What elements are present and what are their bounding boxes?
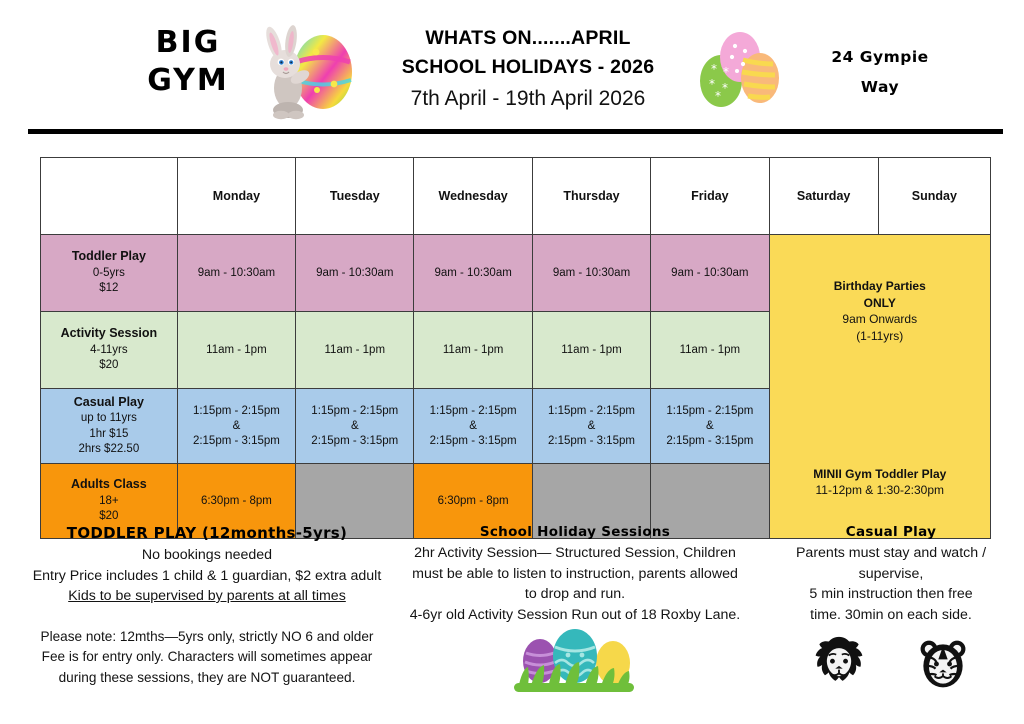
brand-line-2: GYM — [118, 62, 258, 100]
cell-line: 6:30pm - 8pm — [417, 494, 528, 509]
footer-toddler-play: TODDLER PLAY (12months-5yrs) No bookings… — [24, 524, 390, 688]
header-divider — [28, 129, 1003, 134]
row-label-price: $20 — [44, 509, 174, 525]
poster-footer: TODDLER PLAY (12months-5yrs) No bookings… — [0, 524, 1024, 724]
footer-heading-casual-play: Casual Play — [760, 524, 1022, 540]
cell-activity-thursday: 11am - 1pm — [532, 312, 650, 389]
cell-line: 1:15pm - 2:15pm — [654, 404, 765, 419]
cell-line: 1:15pm - 2:15pm — [299, 404, 410, 419]
row-label-price: 1hr $15 — [44, 427, 174, 443]
row-label-casual-play: Casual Play up to 11yrs 1hr $15 2hrs $22… — [41, 389, 178, 464]
table-row: Toddler Play 0-5yrs $12 9am - 10:30am 9a… — [41, 235, 991, 312]
footer-school-holiday-body: 2hr Activity Session— Structured Session… — [394, 543, 756, 625]
cell-toddler-wednesday: 9am - 10:30am — [414, 235, 532, 312]
cell-line: & — [417, 419, 528, 434]
cell-weekend-merged: Birthday Parties ONLY 9am Onwards (1-11y… — [769, 235, 990, 539]
row-label-toddler-play: Toddler Play 0-5yrs $12 — [41, 235, 178, 312]
column-header-friday: Friday — [651, 158, 769, 235]
cell-toddler-tuesday: 9am - 10:30am — [296, 235, 414, 312]
cell-line: 9am - 10:30am — [181, 266, 292, 281]
cell-line: 1:15pm - 2:15pm — [181, 404, 292, 419]
row-label-age: 18+ — [44, 494, 174, 510]
footer-right-line-3: 5 min instruction then free — [760, 584, 1022, 605]
cell-casual-monday: 1:15pm - 2:15pm & 2:15pm - 3:15pm — [177, 389, 295, 464]
lion-head-icon — [810, 635, 868, 693]
cell-line: & — [299, 419, 410, 434]
cell-line: 9am - 10:30am — [536, 266, 647, 281]
footer-mid-line-3: to drop and run. — [394, 584, 756, 605]
cell-line: 2:15pm - 3:15pm — [654, 434, 765, 449]
column-header-saturday: Saturday — [769, 158, 878, 235]
footer-school-holiday-sessions: School Holiday Sessions 2hr Activity Ses… — [394, 524, 756, 695]
poster-header: BIG GYM — [0, 0, 1024, 126]
cell-line: 9am - 10:30am — [417, 266, 528, 281]
footer-right-line-2: supervise, — [760, 564, 1022, 585]
easter-eggs-icon: ** ** * — [690, 26, 786, 110]
footer-right-line-1: Parents must stay and watch / — [760, 543, 1022, 564]
weekend-mini-gym-line-1: MINII Gym Toddler Play — [813, 466, 946, 483]
row-label-title: Casual Play — [44, 395, 174, 411]
cell-toddler-friday: 9am - 10:30am — [651, 235, 769, 312]
cell-line: 2:15pm - 3:15pm — [299, 434, 410, 449]
cell-line: 11am - 1pm — [417, 343, 528, 358]
weekend-birthday-parties: Birthday Parties ONLY 9am Onwards (1-11y… — [834, 278, 926, 344]
cell-line: & — [536, 419, 647, 434]
row-label-price: $20 — [44, 358, 174, 374]
row-label-age: 4-11yrs — [44, 343, 174, 359]
title-line-1: WHATS ON.......APRIL — [372, 24, 684, 53]
cell-line: 9am - 10:30am — [299, 266, 410, 281]
cell-line: 1:15pm - 2:15pm — [417, 404, 528, 419]
footer-casual-play: Casual Play Parents must stay and watch … — [760, 524, 1022, 693]
tiger-head-icon — [914, 635, 972, 693]
cell-line: 2:15pm - 3:15pm — [181, 434, 292, 449]
footer-casual-body: Parents must stay and watch / supervise,… — [760, 543, 1022, 625]
cell-activity-tuesday: 11am - 1pm — [296, 312, 414, 389]
easter-eggs-in-grass-icon — [500, 629, 650, 695]
column-header-wednesday: Wednesday — [414, 158, 532, 235]
cell-toddler-thursday: 9am - 10:30am — [532, 235, 650, 312]
table-header-row: Monday Tuesday Wednesday Thursday Friday… — [41, 158, 991, 235]
cell-line: 11am - 1pm — [654, 343, 765, 358]
row-label-title: Adults Class — [44, 477, 174, 493]
weekend-birthday-line-3: 9am Onwards — [834, 311, 926, 328]
title-date-range: 7th April - 19th April 2026 — [372, 82, 684, 115]
cell-line: & — [654, 419, 765, 434]
cell-activity-friday: 11am - 1pm — [651, 312, 769, 389]
cell-line: 11am - 1pm — [299, 343, 410, 358]
row-label-title: Toddler Play — [44, 249, 174, 265]
footer-mid-line-1: 2hr Activity Session— Structured Session… — [394, 543, 756, 564]
footer-right-line-4: time. 30min on each side. — [760, 605, 1022, 626]
easter-bunny-with-egg-icon — [248, 22, 364, 122]
footer-toddler-note: Please note: 12mths—5yrs only, strictly … — [24, 627, 390, 689]
address-line-2: Way — [790, 72, 970, 102]
page-title: WHATS ON.......APRIL SCHOOL HOLIDAYS - 2… — [372, 24, 684, 115]
cell-line: & — [181, 419, 292, 434]
footer-toddler-note-3: during these sessions, they are NOT guar… — [24, 668, 390, 689]
cell-casual-tuesday: 1:15pm - 2:15pm & 2:15pm - 3:15pm — [296, 389, 414, 464]
row-label-age: 0-5yrs — [44, 266, 174, 282]
cell-line: 11am - 1pm — [181, 343, 292, 358]
schedule-table-wrapper: Monday Tuesday Wednesday Thursday Friday… — [40, 157, 991, 539]
cell-line: 2:15pm - 3:15pm — [417, 434, 528, 449]
footer-toddler-line-3: Kids to be supervised by parents at all … — [24, 586, 390, 607]
cell-line: 9am - 10:30am — [654, 266, 765, 281]
footer-mascots — [760, 635, 1022, 693]
row-label-age: up to 11yrs — [44, 411, 174, 427]
row-label-price: $12 — [44, 281, 174, 297]
row-label-title: Activity Session — [44, 326, 174, 342]
brand-line-1: BIG — [118, 24, 258, 62]
footer-toddler-body: No bookings needed Entry Price includes … — [24, 545, 390, 607]
weekend-birthday-line-1: Birthday Parties — [834, 278, 926, 295]
footer-toddler-line-1: No bookings needed — [24, 545, 390, 566]
column-header-monday: Monday — [177, 158, 295, 235]
cell-line: 6:30pm - 8pm — [181, 494, 292, 509]
svg-text:*: * — [715, 89, 721, 103]
column-header-blank — [41, 158, 178, 235]
cell-casual-friday: 1:15pm - 2:15pm & 2:15pm - 3:15pm — [651, 389, 769, 464]
schedule-table: Monday Tuesday Wednesday Thursday Friday… — [40, 157, 991, 539]
title-line-2: SCHOOL HOLIDAYS - 2026 — [372, 53, 684, 82]
cell-toddler-monday: 9am - 10:30am — [177, 235, 295, 312]
brand-logo: BIG GYM — [118, 24, 258, 100]
svg-text:*: * — [723, 65, 729, 79]
cell-activity-wednesday: 11am - 1pm — [414, 312, 532, 389]
column-header-thursday: Thursday — [532, 158, 650, 235]
footer-mid-line-4: 4-6yr old Activity Session Run out of 18… — [394, 605, 756, 626]
weekend-mini-gym-line-2: 11-12pm & 1:30-2:30pm — [813, 482, 946, 499]
venue-address: 24 Gympie Way — [790, 42, 970, 102]
weekend-mini-gym: MINII Gym Toddler Play 11-12pm & 1:30-2:… — [813, 466, 946, 499]
weekend-birthday-line-4: (1-11yrs) — [834, 328, 926, 345]
svg-text:*: * — [711, 62, 717, 76]
cell-line: 1:15pm - 2:15pm — [536, 404, 647, 419]
svg-text:*: * — [722, 81, 728, 95]
footer-toddler-line-2: Entry Price includes 1 child & 1 guardia… — [24, 566, 390, 587]
footer-toddler-note-2: Fee is for entry only. Characters will s… — [24, 647, 390, 668]
address-line-1: 24 Gympie — [790, 42, 970, 72]
footer-heading-school-holiday: School Holiday Sessions — [394, 524, 756, 540]
footer-heading-toddler-play: TODDLER PLAY (12months-5yrs) — [24, 524, 390, 542]
row-label-activity-session: Activity Session 4-11yrs $20 — [41, 312, 178, 389]
cell-line: 11am - 1pm — [536, 343, 647, 358]
column-header-tuesday: Tuesday — [296, 158, 414, 235]
cell-line: 2:15pm - 3:15pm — [536, 434, 647, 449]
footer-mid-line-2: must be able to listen to instruction, p… — [394, 564, 756, 585]
cell-activity-monday: 11am - 1pm — [177, 312, 295, 389]
weekend-birthday-line-2: ONLY — [834, 295, 926, 312]
footer-toddler-note-1: Please note: 12mths—5yrs only, strictly … — [24, 627, 390, 648]
cell-casual-thursday: 1:15pm - 2:15pm & 2:15pm - 3:15pm — [532, 389, 650, 464]
cell-casual-wednesday: 1:15pm - 2:15pm & 2:15pm - 3:15pm — [414, 389, 532, 464]
row-label-price-extra: 2hrs $22.50 — [44, 442, 174, 458]
column-header-sunday: Sunday — [878, 158, 990, 235]
